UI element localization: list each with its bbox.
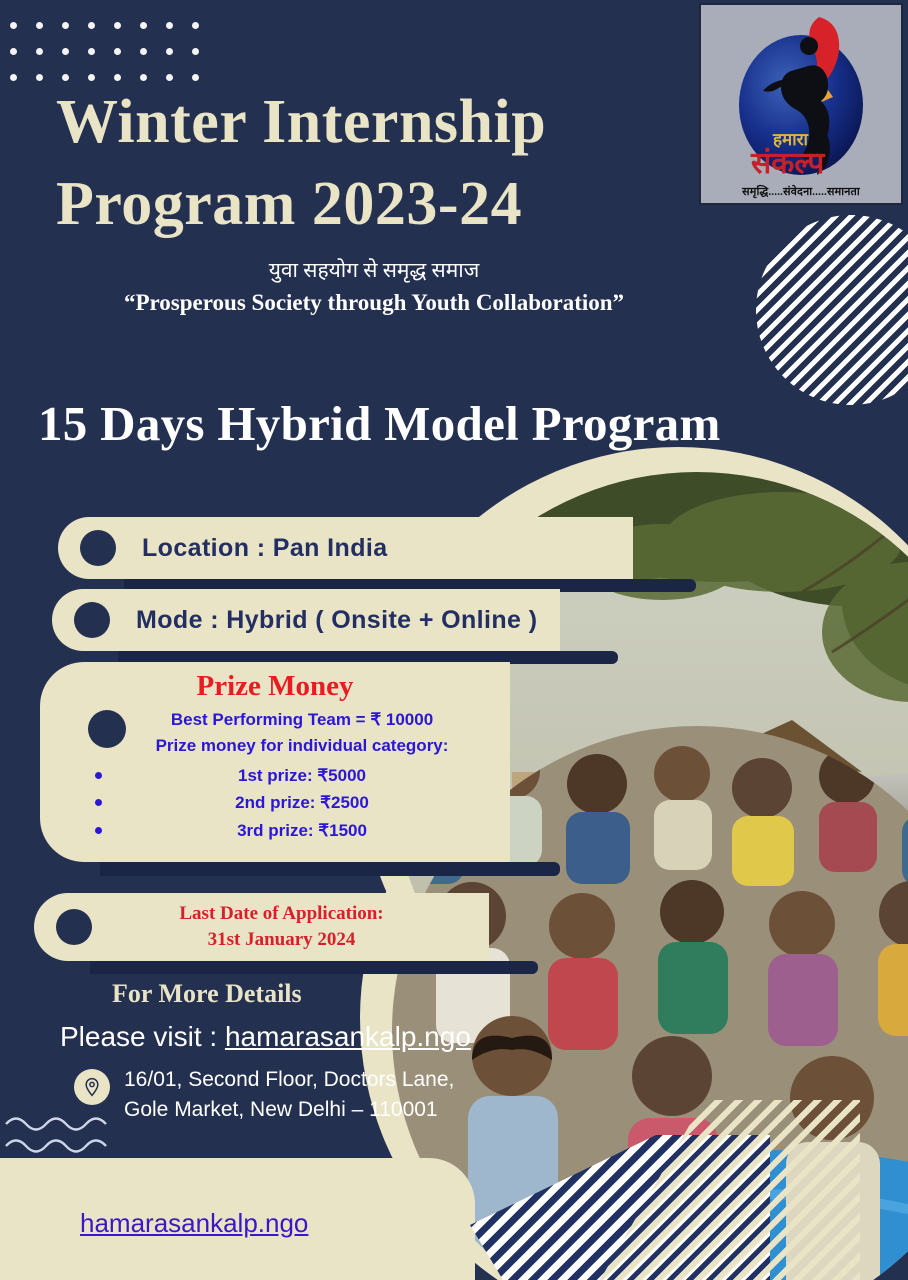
pill-body: Last Date of Application: 31st January 2… <box>34 893 489 961</box>
address-text: 16/01, Second Floor, Doctors Lane, Gole … <box>124 1065 454 1126</box>
bullet-dot-icon <box>56 909 92 945</box>
footer-website-link[interactable]: hamarasankalp.ngo <box>80 1208 308 1239</box>
deadline-date: 31st January 2024 <box>92 927 471 953</box>
prize-list: 1st prize: ₹5000 2nd prize: ₹2500 3rd pr… <box>40 762 510 845</box>
prize-item: 3rd prize: ₹1500 <box>40 817 510 845</box>
address-row: 16/01, Second Floor, Doctors Lane, Gole … <box>74 1065 454 1126</box>
bullet-dot-icon <box>74 602 110 638</box>
deadline-label: Last Date of Application: <box>92 901 471 927</box>
pill-body: Location : Pan India <box>58 517 633 579</box>
pill-shadow <box>100 862 560 876</box>
visit-row: Please visit : hamarasankalp.ngo <box>60 1021 471 1053</box>
website-link[interactable]: hamarasankalp.ngo <box>225 1021 471 1052</box>
visit-label: Please visit : <box>60 1021 225 1052</box>
pill-shadow <box>90 961 538 974</box>
address-line-2: Gole Market, New Delhi – 110001 <box>124 1098 438 1121</box>
organization-logo: हमारा संकल्प समृद्धि.....संवेदना.....समा… <box>699 3 903 205</box>
page-title: Winter Internship Program 2023-24 <box>56 82 696 246</box>
application-deadline-section: Last Date of Application: 31st January 2… <box>34 893 489 961</box>
more-details-heading: For More Details <box>112 979 302 1009</box>
pill-body: Mode : Hybrid ( Onsite + Online ) <box>52 589 560 651</box>
logo-tagline: समृद्धि.....संवेदना.....समानता <box>701 184 901 199</box>
location-pin-icon <box>74 1069 110 1105</box>
bullet-dot-icon <box>80 530 116 566</box>
title-line-1: Winter Internship <box>56 82 696 164</box>
detail-row-mode: Mode : Hybrid ( Onsite + Online ) <box>52 589 560 651</box>
prize-individual-label: Prize money for individual category: <box>94 733 510 759</box>
mode-text: Mode : Hybrid ( Onsite + Online ) <box>136 606 537 635</box>
prize-item: 1st prize: ₹5000 <box>40 762 510 790</box>
bullet-dot-icon <box>88 710 126 748</box>
poster-canvas: हमारा संकल्प समृद्धि.....संवेदना.....समा… <box>0 0 908 1280</box>
address-line-1: 16/01, Second Floor, Doctors Lane, <box>124 1068 454 1091</box>
pill-body: Prize Money Best Performing Team = ₹ 100… <box>40 662 510 862</box>
prize-item: 2nd prize: ₹2500 <box>40 789 510 817</box>
detail-row-location: Location : Pan India <box>58 517 633 579</box>
subtitle-hindi: युवा सहयोग से समृद्ध समाज <box>0 256 908 284</box>
svg-text:संकल्प: संकल्प <box>750 147 825 180</box>
logo-artwork: हमारा संकल्प <box>701 5 901 203</box>
prize-money-section: Prize Money Best Performing Team = ₹ 100… <box>40 662 510 862</box>
prize-best-team: Best Performing Team = ₹ 10000 <box>94 707 510 733</box>
subtitle-english: “Prosperous Society through Youth Collab… <box>0 290 908 316</box>
prize-title: Prize Money <box>40 670 510 703</box>
title-line-2: Program 2023-24 <box>56 164 696 246</box>
program-headline: 15 Days Hybrid Model Program <box>38 395 721 452</box>
location-text: Location : Pan India <box>142 534 388 563</box>
